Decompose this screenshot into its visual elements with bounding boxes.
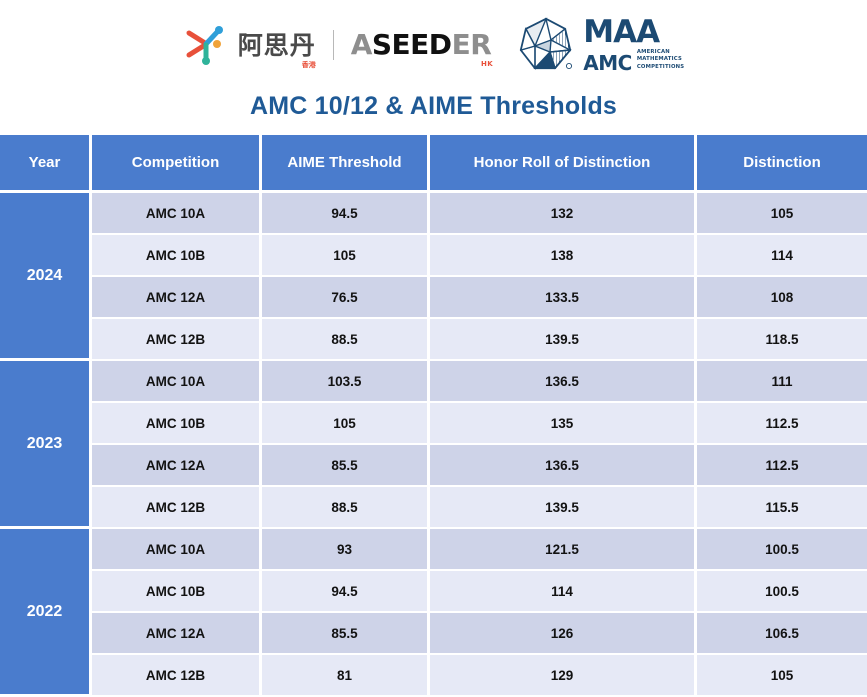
maa-polyhedron-icon: [517, 16, 575, 74]
aime-threshold-cell: 76.5: [262, 277, 430, 319]
thresholds-table: Year Competition AIME Threshold Honor Ro…: [0, 135, 867, 697]
distinction-cell: 106.5: [697, 613, 867, 655]
competition-cell: AMC 12A: [92, 277, 262, 319]
header-row: Year Competition AIME Threshold Honor Ro…: [0, 135, 867, 193]
column-header-distinction[interactable]: Distinction: [697, 135, 867, 193]
aseeder-logo: 阿思丹 香港 ASEEDER HK: [183, 22, 492, 68]
aime-threshold-cell: 88.5: [262, 487, 430, 529]
table-header: Year Competition AIME Threshold Honor Ro…: [0, 135, 867, 193]
maa-amc-text: AMC: [583, 53, 632, 73]
aseeder-word-er: ER: [452, 28, 492, 61]
competition-cell: AMC 10B: [92, 571, 262, 613]
table-row: AMC 12B88.5139.5118.5: [0, 319, 867, 361]
competition-cell: AMC 12A: [92, 613, 262, 655]
competition-cell: AMC 10A: [92, 193, 262, 235]
aseeder-wordmark: ASEEDER HK: [351, 31, 492, 59]
column-header-honor-roll[interactable]: Honor Roll of Distinction: [430, 135, 697, 193]
honor-roll-cell: 133.5: [430, 277, 697, 319]
aime-threshold-cell: 105: [262, 403, 430, 445]
year-cell: 2023: [0, 361, 92, 529]
honor-roll-cell: 136.5: [430, 361, 697, 403]
honor-roll-cell: 139.5: [430, 487, 697, 529]
aseeder-region-tag: HK: [481, 61, 493, 68]
aime-threshold-cell: 94.5: [262, 193, 430, 235]
column-header-competition[interactable]: Competition: [92, 135, 262, 193]
maa-desc-line1: AMERICAN: [637, 49, 670, 55]
table-row: AMC 10B105138114: [0, 235, 867, 277]
maa-description: AMERICAN MATHEMATICS COMPETITIONS: [637, 49, 684, 72]
aseeder-chinese-name: 阿思丹 香港: [238, 33, 316, 58]
competition-cell: AMC 10B: [92, 235, 262, 277]
page-title: AMC 10/12 & AIME Thresholds: [0, 92, 867, 121]
distinction-cell: 112.5: [697, 403, 867, 445]
competition-cell: AMC 12B: [92, 319, 262, 361]
aseeder-star-icon: [183, 22, 229, 68]
column-header-aime[interactable]: AIME Threshold: [262, 135, 430, 193]
aime-threshold-cell: 85.5: [262, 613, 430, 655]
distinction-cell: 118.5: [697, 319, 867, 361]
distinction-cell: 105: [697, 193, 867, 235]
aime-threshold-cell: 85.5: [262, 445, 430, 487]
aime-threshold-cell: 105: [262, 235, 430, 277]
table-row: AMC 12A85.5136.5112.5: [0, 445, 867, 487]
distinction-cell: 108: [697, 277, 867, 319]
distinction-cell: 114: [697, 235, 867, 277]
aime-threshold-cell: 81: [262, 655, 430, 697]
honor-roll-cell: 135: [430, 403, 697, 445]
table-row: AMC 12B88.5139.5115.5: [0, 487, 867, 529]
honor-roll-cell: 138: [430, 235, 697, 277]
year-cell: 2022: [0, 529, 92, 697]
aseeder-chinese-sub: 香港: [302, 62, 316, 69]
aseeder-word-a: A: [351, 28, 372, 61]
competition-cell: AMC 12B: [92, 655, 262, 697]
distinction-cell: 105: [697, 655, 867, 697]
distinction-cell: 100.5: [697, 529, 867, 571]
honor-roll-cell: 139.5: [430, 319, 697, 361]
table-row: 2024AMC 10A94.5132105: [0, 193, 867, 235]
logo-divider: [333, 30, 334, 60]
logo-bar: 阿思丹 香港 ASEEDER HK: [0, 0, 867, 90]
distinction-cell: 115.5: [697, 487, 867, 529]
aime-threshold-cell: 93: [262, 529, 430, 571]
table-row: AMC 12A76.5133.5108: [0, 277, 867, 319]
honor-roll-cell: 129: [430, 655, 697, 697]
aime-threshold-cell: 103.5: [262, 361, 430, 403]
distinction-cell: 111: [697, 361, 867, 403]
maa-logo: MAA AMC AMERICAN MATHEMATICS COMPETITION…: [517, 16, 684, 74]
competition-cell: AMC 12B: [92, 487, 262, 529]
table-row: 2022AMC 10A93121.5100.5: [0, 529, 867, 571]
maa-desc-line3: COMPETITIONS: [637, 64, 684, 70]
competition-cell: AMC 10B: [92, 403, 262, 445]
table-body: 2024AMC 10A94.5132105AMC 10B105138114AMC…: [0, 193, 867, 697]
competition-cell: AMC 10A: [92, 361, 262, 403]
aime-threshold-cell: 94.5: [262, 571, 430, 613]
competition-cell: AMC 12A: [92, 445, 262, 487]
table-row: AMC 10B105135112.5: [0, 403, 867, 445]
year-cell: 2024: [0, 193, 92, 361]
distinction-cell: 112.5: [697, 445, 867, 487]
honor-roll-cell: 132: [430, 193, 697, 235]
maa-desc-line2: MATHEMATICS: [637, 56, 682, 62]
competition-cell: AMC 10A: [92, 529, 262, 571]
table-row: AMC 12B81129105: [0, 655, 867, 697]
table-row: 2023AMC 10A103.5136.5111: [0, 361, 867, 403]
honor-roll-cell: 121.5: [430, 529, 697, 571]
table-row: AMC 10B94.5114100.5: [0, 571, 867, 613]
table-row: AMC 12A85.5126106.5: [0, 613, 867, 655]
maa-title-text: MAA: [583, 17, 684, 48]
aseeder-word-seed: SEED: [372, 28, 452, 61]
honor-roll-cell: 126: [430, 613, 697, 655]
honor-roll-cell: 114: [430, 571, 697, 613]
maa-wordmark: MAA AMC AMERICAN MATHEMATICS COMPETITION…: [583, 17, 684, 72]
distinction-cell: 100.5: [697, 571, 867, 613]
honor-roll-cell: 136.5: [430, 445, 697, 487]
column-header-year[interactable]: Year: [0, 135, 92, 193]
aime-threshold-cell: 88.5: [262, 319, 430, 361]
aseeder-chinese-text: 阿思丹: [238, 31, 316, 60]
